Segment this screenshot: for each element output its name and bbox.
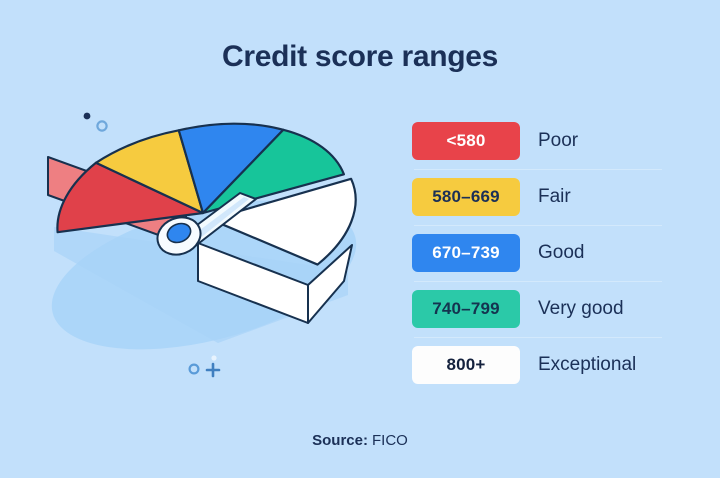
legend-badge-good: 670–739	[412, 234, 520, 272]
source-label: Source:	[312, 432, 368, 449]
legend-label-poor: Poor	[538, 130, 578, 152]
legend-badge-fair: 580–669	[412, 178, 520, 216]
legend-label-exceptional: Exceptional	[538, 354, 636, 376]
legend-label-very-good: Very good	[538, 298, 624, 320]
source-value: FICO	[372, 432, 408, 449]
source-line: Source:FICO	[0, 432, 720, 449]
legend-badge-very-good: 740–799	[412, 290, 520, 328]
legend-badge-exceptional: 800+	[412, 346, 520, 384]
legend-row-poor[interactable]: <580 Poor	[412, 113, 664, 169]
legend-label-fair: Fair	[538, 186, 571, 208]
legend-row-good[interactable]: 670–739 Good	[412, 225, 664, 281]
pie-chart-svg	[18, 95, 398, 385]
legend: <580 Poor 580–669 Fair 670–739 Good 740–…	[412, 113, 664, 393]
legend-row-fair[interactable]: 580–669 Fair	[412, 169, 664, 225]
pie-chart-figure	[18, 95, 398, 385]
credit-score-infographic: Credit score ranges	[0, 0, 720, 478]
legend-row-exceptional[interactable]: 800+ Exceptional	[412, 337, 664, 393]
legend-label-good: Good	[538, 242, 584, 264]
legend-badge-poor: <580	[412, 122, 520, 160]
legend-row-very-good[interactable]: 740–799 Very good	[412, 281, 664, 337]
page-title: Credit score ranges	[0, 40, 720, 74]
